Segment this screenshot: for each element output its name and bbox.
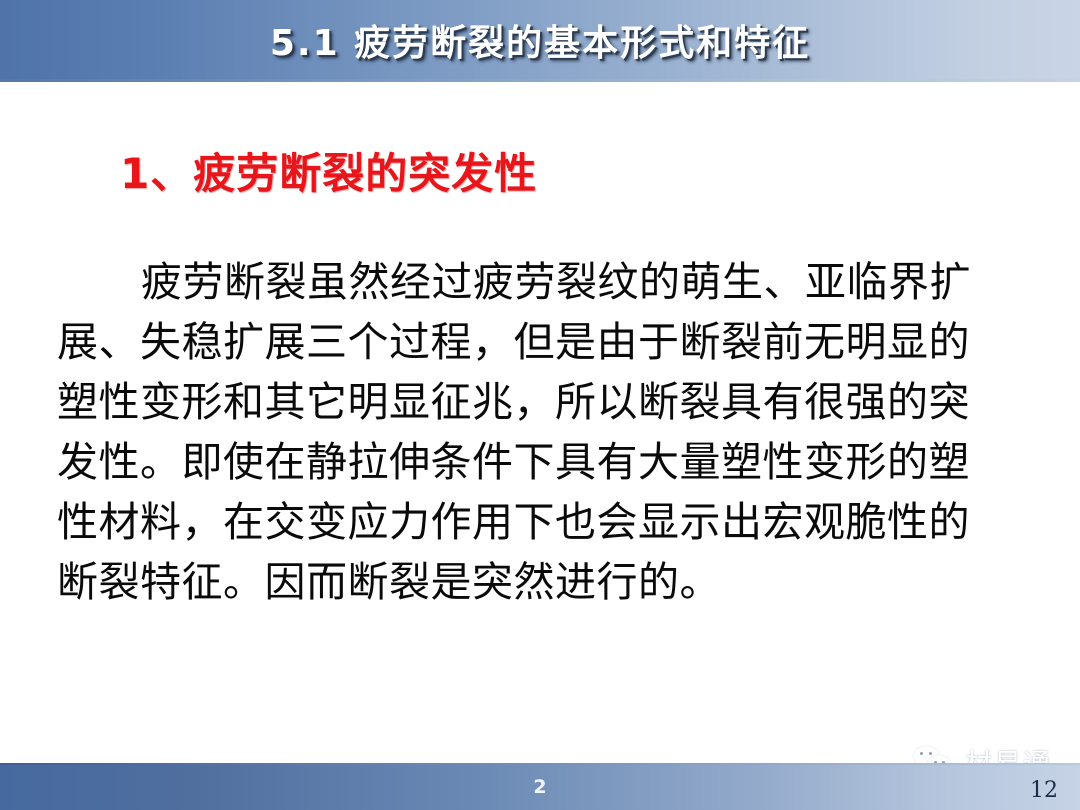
body-line: 断裂特征。因而断裂是突然进行的。 [57,552,987,612]
slide-title: 5.1 疲劳断裂的基本形式和特征 [0,14,1080,66]
section-heading: 1、疲劳断裂的突发性 [120,140,537,201]
header-underline [0,79,1080,82]
body-paragraph: 疲劳断裂虽然经过疲劳裂纹的萌生、亚临界扩 展、失稳扩展三个过程，但是由于断裂前无… [57,252,987,612]
presentation-slide: 5.1 疲劳断裂的基本形式和特征 1、疲劳断裂的突发性 疲劳断裂虽然经过疲劳裂纹… [0,0,1080,810]
page-number: 2 [495,776,585,798]
body-line: 发性。即使在静拉伸条件下具有大量塑性变形的塑 [57,432,987,492]
bubble-eye-icon [929,752,932,755]
body-line: 性材料，在交变应力作用下也会显示出宏观脆性的 [57,492,987,552]
body-line: 塑性变形和其它明显征兆，所以断裂具有很强的突 [57,372,987,432]
body-line: 疲劳断裂虽然经过疲劳裂纹的萌生、亚临界扩 [57,252,987,312]
body-line: 展、失稳扩展三个过程，但是由于断裂前无明显的 [57,312,987,372]
bubble-eye-icon [920,752,923,755]
slide-count: 12 [1030,778,1058,803]
